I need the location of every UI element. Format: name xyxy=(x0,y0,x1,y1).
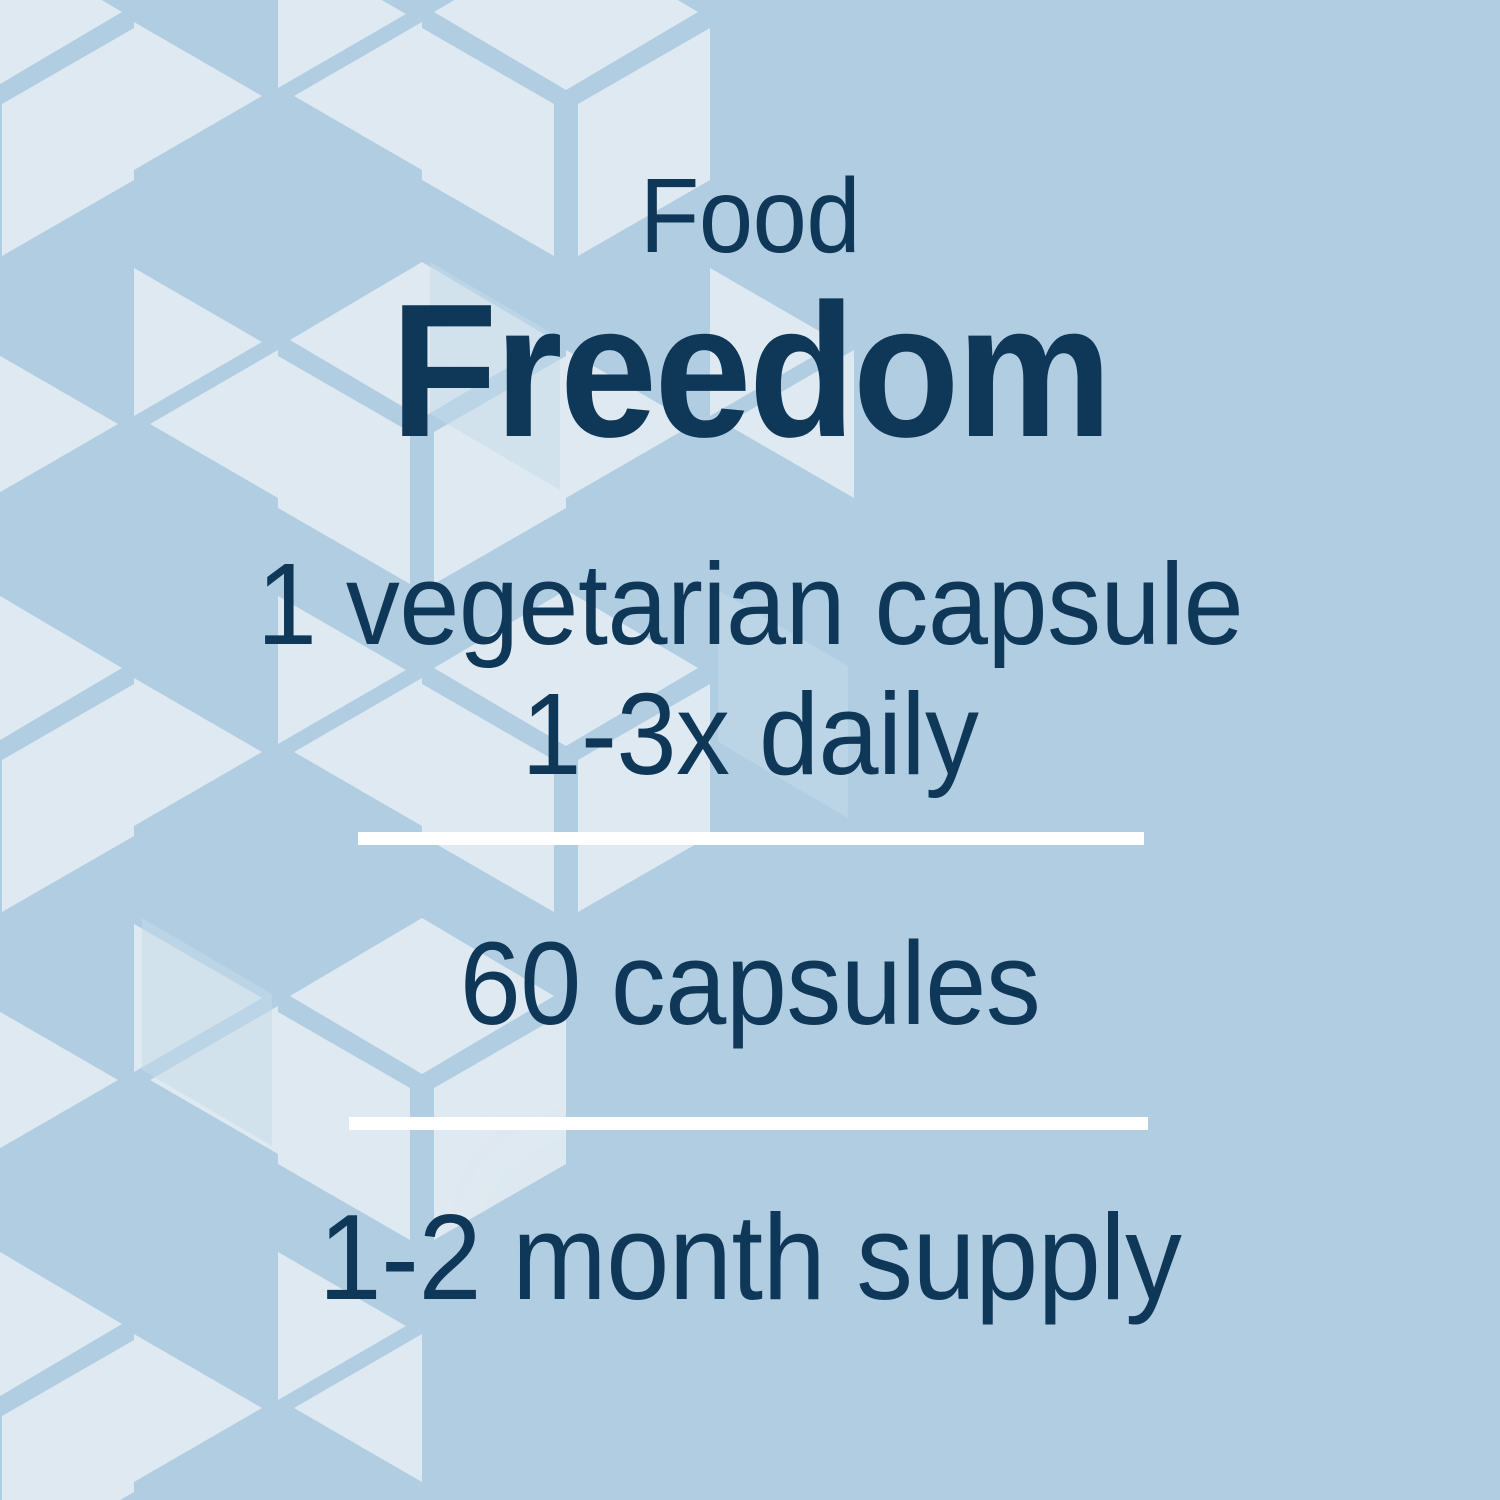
capsule-count: 60 capsules xyxy=(53,925,1448,1043)
product-info-panel: Food Freedom 1 vegetarian capsule 1-3x d… xyxy=(0,0,1500,1500)
eyebrow-label: Food xyxy=(60,163,1440,269)
dosage-line-2: 1-3x daily xyxy=(53,670,1448,800)
panel-content: Food Freedom 1 vegetarian capsule 1-3x d… xyxy=(0,0,1500,1500)
dosage-line-1: 1 vegetarian capsule xyxy=(53,540,1448,670)
divider-top xyxy=(358,832,1144,845)
dosage-instructions: 1 vegetarian capsule 1-3x daily xyxy=(53,540,1448,800)
supply-duration: 1-2 month supply xyxy=(53,1196,1448,1318)
page-title: Freedom xyxy=(60,276,1440,466)
divider-bottom xyxy=(349,1117,1148,1130)
